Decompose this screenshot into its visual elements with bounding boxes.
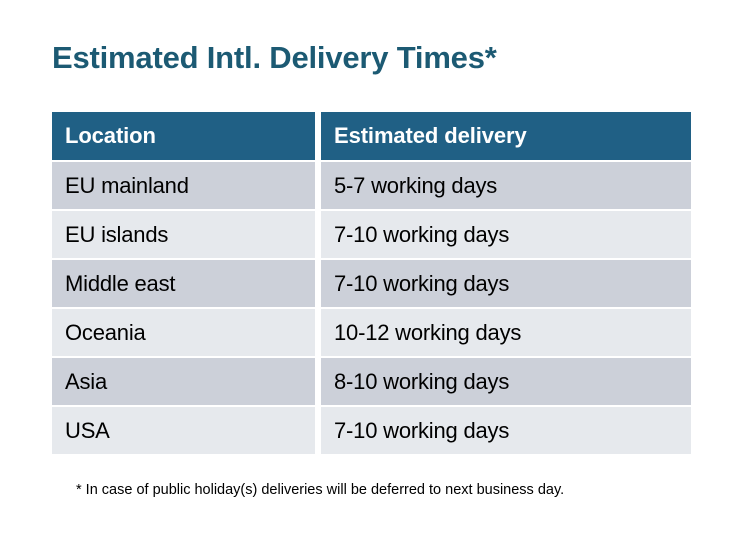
cell-location: Middle east	[52, 260, 315, 307]
cell-location: EU islands	[52, 211, 315, 258]
delivery-times-page: Estimated Intl. Delivery Times* Location…	[0, 0, 745, 536]
table-row: USA 7-10 working days	[52, 407, 691, 454]
column-header-location: Location	[52, 112, 315, 160]
table-row: EU islands 7-10 working days	[52, 211, 691, 258]
cell-delivery: 10-12 working days	[321, 309, 691, 356]
table-row: Middle east 7-10 working days	[52, 260, 691, 307]
table-row: Oceania 10-12 working days	[52, 309, 691, 356]
delivery-times-table: Location Estimated delivery EU mainland …	[52, 112, 691, 456]
cell-delivery: 5-7 working days	[321, 162, 691, 209]
cell-delivery: 7-10 working days	[321, 407, 691, 454]
cell-location: Asia	[52, 358, 315, 405]
table-row: Asia 8-10 working days	[52, 358, 691, 405]
cell-location: USA	[52, 407, 315, 454]
cell-delivery: 7-10 working days	[321, 260, 691, 307]
column-header-estimated-delivery: Estimated delivery	[321, 112, 691, 160]
footnote-text: * In case of public holiday(s) deliverie…	[76, 480, 564, 500]
cell-location: Oceania	[52, 309, 315, 356]
table-row: EU mainland 5-7 working days	[52, 162, 691, 209]
page-title: Estimated Intl. Delivery Times*	[52, 36, 497, 80]
table-header-row: Location Estimated delivery	[52, 112, 691, 160]
cell-delivery: 7-10 working days	[321, 211, 691, 258]
cell-delivery: 8-10 working days	[321, 358, 691, 405]
cell-location: EU mainland	[52, 162, 315, 209]
